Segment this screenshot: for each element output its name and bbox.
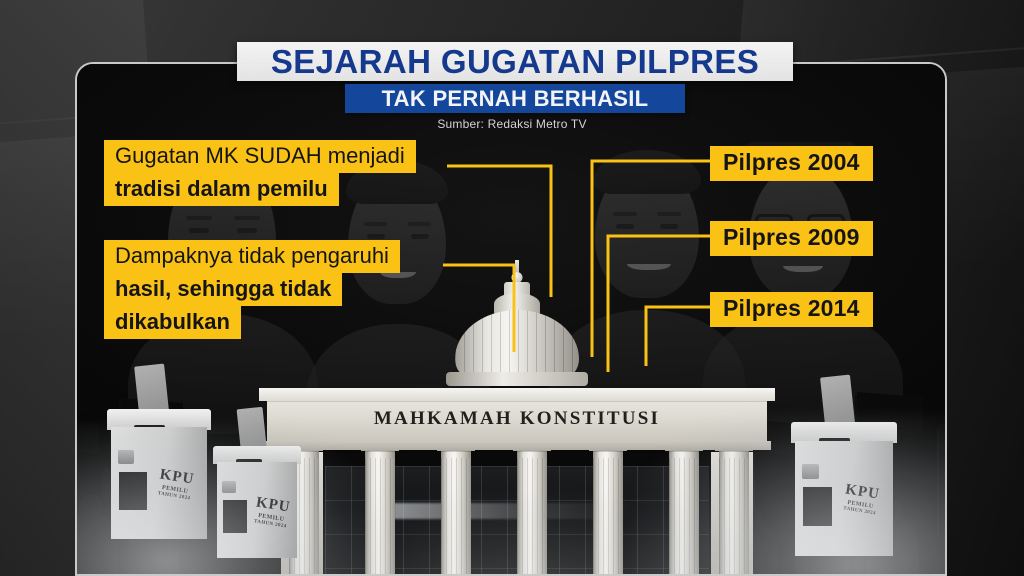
year-chip-2004: Pilpres 2004 [710,146,873,181]
callout-tradisi: Gugatan MK SUDAH menjadi tradisi dalam p… [104,140,416,206]
callout-line: tradisi dalam pemilu [104,173,339,206]
column [441,450,471,576]
flag-cloth [939,424,947,456]
dome-ribs [455,310,579,376]
page-subtitle: TAK PERNAH BERHASIL [382,88,649,110]
studio-backdrop: MAHKAMAH KONSTITUSI KPU PEMILU TAHUN 202… [0,0,1024,576]
ballot-box-1: KPU PEMILU TAHUN 2024 [107,409,211,539]
dome-base [446,372,588,386]
ballot-box-2: KPU PEMILU TAHUN 2024 [213,446,301,558]
column [719,450,749,576]
entablature: MAHKAMAH KONSTITUSI [267,388,767,450]
flag-cloth [75,420,99,454]
source-credit: Sumber: Redaksi Metro TV [0,117,1024,131]
dome [455,310,579,376]
building-frieze-text: MAHKAMAH KONSTITUSI [267,408,767,430]
ballot-lock [802,464,819,479]
year-chip-2014: Pilpres 2014 [710,292,873,327]
cornice [259,388,775,401]
colonnade [267,450,767,576]
callout-line: Dampaknya tidak pengaruhi [104,240,400,273]
ballot-body: KPU PEMILU TAHUN 2024 [111,427,207,539]
main-title-banner: SEJARAH GUGATAN PILPRES [237,42,793,81]
ballot-box-3: KPU PEMILU TAHUN 2024 [791,422,897,556]
column [517,450,547,576]
flag-pole [937,428,939,538]
ballot-lock [118,450,134,465]
ballot-kpu-mark: KPU PEMILU TAHUN 2024 [249,495,295,530]
ballot-lock [222,481,236,494]
column [593,450,623,576]
ballot-window [803,487,832,526]
ballot-window [223,500,247,533]
architrave [263,441,771,450]
year-chip-2009: Pilpres 2009 [710,221,873,256]
ballot-window [119,472,148,510]
callout-line: dikabulkan [104,306,241,339]
column [365,450,395,576]
ballot-body: KPU PEMILU TAHUN 2024 [217,462,298,558]
ballot-kpu-mark: KPU PEMILU TAHUN 2024 [834,481,889,518]
ballot-kpu-mark: KPU PEMILU TAHUN 2024 [149,466,203,502]
callout-line: hasil, sehingga tidak [104,273,342,306]
ballot-body: KPU PEMILU TAHUN 2024 [795,441,893,556]
callout-line: Gugatan MK SUDAH menjadi [104,140,416,173]
subtitle-banner: TAK PERNAH BERHASIL [345,84,685,113]
column [669,450,699,576]
callout-dikabulkan: Dampaknya tidak pengaruhi hasil, sehingg… [104,240,400,339]
page-title: SEJARAH GUGATAN PILPRES [271,45,759,78]
